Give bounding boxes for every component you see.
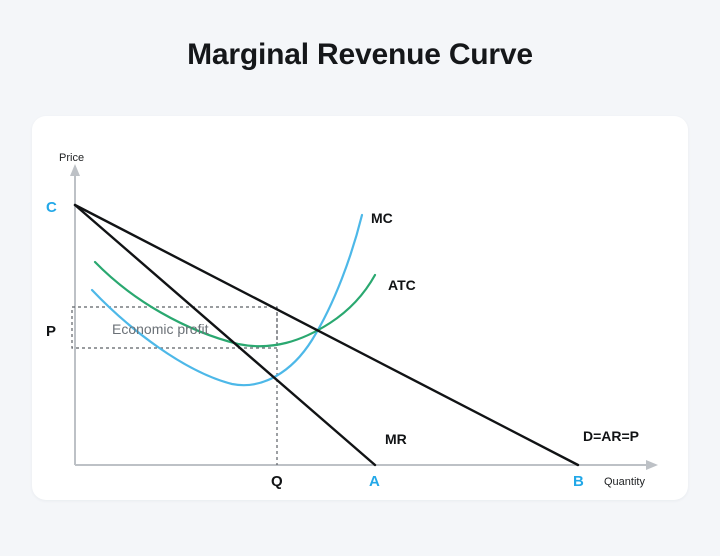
quantity-axis-arrow bbox=[646, 460, 658, 470]
mr-label: MR bbox=[385, 431, 407, 447]
page-root: Marginal Revenue Curve Price Quantity bbox=[0, 0, 720, 556]
point-c-label: C bbox=[46, 199, 57, 216]
point-b-label: B bbox=[573, 473, 584, 490]
price-axis-label: Price bbox=[59, 152, 84, 164]
point-p-label: P bbox=[46, 323, 56, 340]
page-title: Marginal Revenue Curve bbox=[0, 38, 720, 72]
quantity-axis-label: Quantity bbox=[604, 476, 645, 488]
point-q-label: Q bbox=[271, 473, 283, 490]
demand-label: D=AR=P bbox=[583, 428, 639, 444]
point-a-label: A bbox=[369, 473, 380, 490]
price-axis-arrow bbox=[70, 164, 80, 176]
economic-profit-label: Economic profit bbox=[112, 321, 209, 337]
atc-label: ATC bbox=[388, 277, 416, 293]
mc-curve bbox=[92, 215, 362, 385]
marginal-revenue-chart: Price Quantity Economic profit MC ATC MR… bbox=[32, 116, 688, 500]
chart-card: Price Quantity Economic profit MC ATC MR… bbox=[32, 116, 688, 500]
mc-label: MC bbox=[371, 210, 393, 226]
